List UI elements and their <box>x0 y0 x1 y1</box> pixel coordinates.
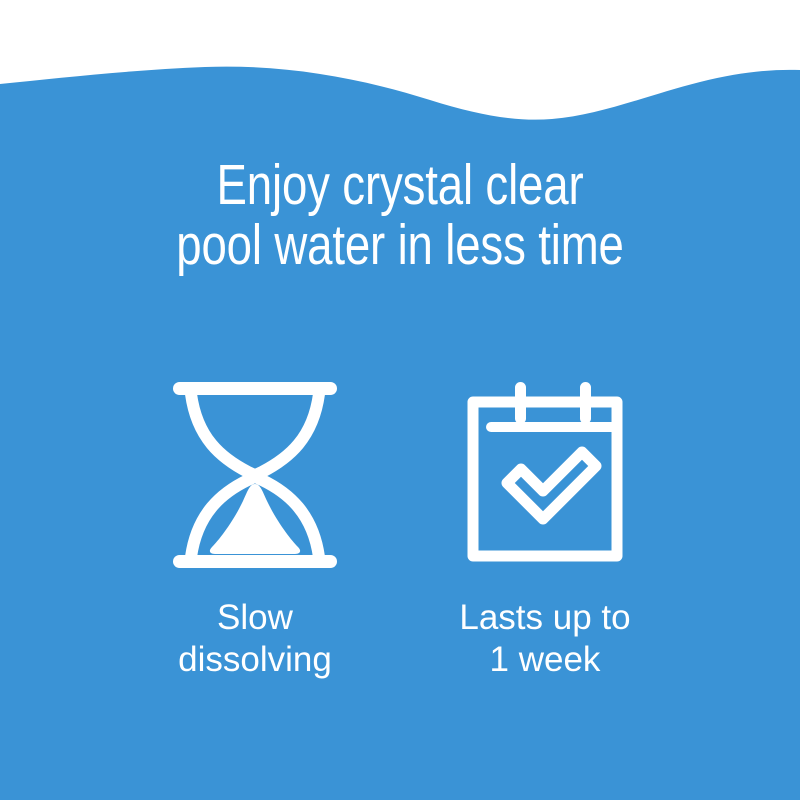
hourglass-icon <box>171 380 339 570</box>
feature-caption-lasts-1-week: Lasts up to 1 week <box>459 597 630 681</box>
promo-infographic: Enjoy crystal clear pool water in less t… <box>0 0 800 800</box>
page-title: Enjoy crystal clear pool water in less t… <box>80 155 720 275</box>
calendar-check-icon-wrap <box>458 375 632 575</box>
feature-item-slow-dissolving: Slow dissolving <box>110 375 400 681</box>
headline-line-2: pool water in less time <box>80 215 720 275</box>
feature-list: Slow dissolving <box>0 375 800 681</box>
feature-caption-slow-dissolving: Slow dissolving <box>178 597 332 681</box>
headline-line-1: Enjoy crystal clear <box>80 155 720 215</box>
feature-item-lasts-1-week: Lasts up to 1 week <box>400 375 690 681</box>
hourglass-icon-wrap <box>171 375 339 575</box>
calendar-check-icon <box>458 380 632 570</box>
